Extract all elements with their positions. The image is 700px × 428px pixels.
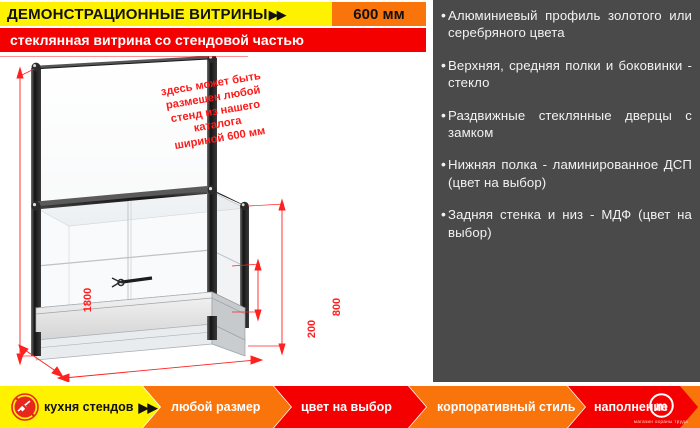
- list-item: • Верхняя, средняя полки и боковинки - с…: [439, 57, 692, 92]
- list-item: • Нижняя полка - ламинированное ДСП (цве…: [439, 156, 692, 191]
- dimension-label-base-height: 200: [306, 320, 318, 338]
- footer-segment-3[interactable]: цвет на выбор: [274, 386, 426, 428]
- brand-mark-icon: m: [649, 393, 674, 418]
- left-panel: ДЕМОНСТРАЦИОННЫЕ ВИТРИНЫ ▶▶ 600 мм стекл…: [0, 0, 433, 382]
- stand-board: [31, 56, 217, 206]
- page-title: ДЕМОНСТРАЦИОННЫЕ ВИТРИНЫ: [0, 6, 268, 23]
- list-item: • Задняя стенка и низ - МДФ (цвет на выб…: [439, 206, 692, 241]
- bullet-icon: •: [439, 107, 448, 124]
- size-badge: 600 мм: [332, 2, 426, 26]
- kitchen-stands-logo-icon: [11, 393, 39, 421]
- feature-text-4: Нижняя полка - ламинированное ДСП (цвет …: [448, 156, 692, 191]
- size-badge-label: 600 мм: [353, 6, 404, 23]
- footer-arrows-icon: ▶▶: [138, 401, 156, 414]
- bullet-icon: •: [439, 7, 448, 24]
- header-subtitle-bar: стеклянная витрина со стендовой частью: [0, 28, 426, 52]
- feature-text-2: Верхняя, средняя полки и боковинки - сте…: [448, 57, 692, 92]
- footer-segment-2[interactable]: любой размер: [143, 386, 291, 428]
- footer-segment-2-label: любой размер: [171, 400, 260, 414]
- header-title-bar: ДЕМОНСТРАЦИОННЫЕ ВИТРИНЫ ▶▶: [0, 2, 332, 26]
- footer-segment-1-label: кухня стендов: [44, 400, 133, 414]
- feature-text-5: Задняя стенка и низ - МДФ (цвет на выбор…: [448, 206, 692, 241]
- footer-segment-3-label: цвет на выбор: [301, 400, 392, 414]
- brand-logo: m магазин охраны труда: [628, 389, 694, 427]
- features-panel: • Алюминиевый профиль золотого или сереб…: [433, 0, 700, 382]
- feature-text-1: Алюминиевый профиль золотого или серебря…: [448, 7, 692, 42]
- features-list: • Алюминиевый профиль золотого или сереб…: [433, 0, 700, 241]
- title-arrows-icon: ▶▶: [269, 8, 285, 21]
- bullet-icon: •: [439, 57, 448, 74]
- showcase-drawing: 1800 800 200 400 600: [0, 56, 433, 382]
- bullet-icon: •: [439, 156, 448, 173]
- footer-bar: наполнение корпоративный стиль цвет на в…: [0, 386, 700, 428]
- list-item: • Раздвижные стеклянные дверцы с замком: [439, 107, 692, 142]
- footer-segment-4-label: корпоративный стиль: [437, 400, 575, 414]
- dimension-label-height: 1800: [82, 288, 94, 312]
- slide-root: ДЕМОНСТРАЦИОННЫЕ ВИТРИНЫ ▶▶ 600 мм стекл…: [0, 0, 700, 428]
- showcase-drawing-svg: [0, 56, 433, 382]
- brand-name: магазин охраны труда: [634, 419, 688, 424]
- feature-text-3: Раздвижные стеклянные дверцы с замком: [448, 107, 692, 142]
- bullet-icon: •: [439, 206, 448, 223]
- svg-text:m: m: [655, 398, 667, 413]
- page-subtitle: стеклянная витрина со стендовой частью: [0, 32, 304, 48]
- dimension-label-case-height: 800: [331, 298, 343, 316]
- footer-segment-4[interactable]: корпоративный стиль: [409, 386, 585, 428]
- list-item: • Алюминиевый профиль золотого или сереб…: [439, 7, 692, 42]
